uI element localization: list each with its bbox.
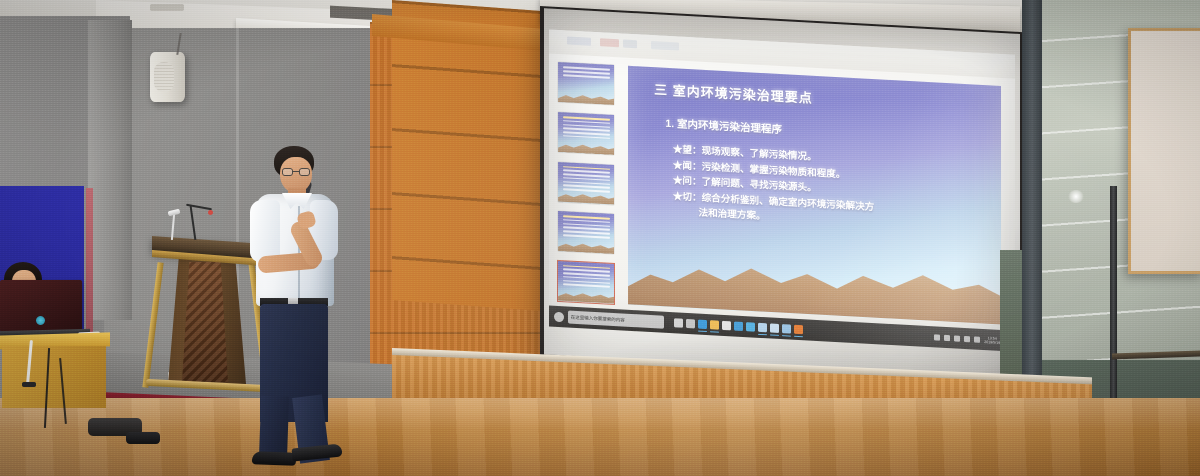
edge-browser-icon[interactable] — [698, 320, 707, 329]
speaker-grill — [154, 62, 174, 92]
clock-date: 2019/5/19 — [984, 340, 1000, 345]
volume-icon[interactable] — [964, 336, 970, 342]
presenter — [236, 146, 356, 466]
chat-icon[interactable] — [746, 323, 755, 332]
store-icon[interactable] — [722, 321, 731, 330]
thumbnail-text-lines — [563, 116, 610, 141]
operator-table-body — [2, 346, 106, 408]
slide-mountain-shading — [628, 240, 1001, 324]
thumbnail-mountain — [558, 290, 614, 303]
floor-reflection — [0, 398, 1200, 476]
ribbon-chip-2 — [600, 38, 619, 47]
powerpoint-window[interactable]: 三 室内环境污染治理要点 1. 室内环境污染治理程序 ★望：现场观察、了解污染情… — [549, 29, 1015, 352]
screen-surface: 三 室内环境污染治理要点 1. 室内环境污染治理程序 ★望：现场观察、了解污染情… — [544, 8, 1020, 380]
ribbon-chip-3 — [623, 39, 637, 48]
whiteboard[interactable] — [1128, 28, 1200, 274]
thumbnail-mountain — [558, 142, 614, 155]
slide-thumbnail-selected[interactable] — [558, 261, 614, 304]
powerpoint-ribbon[interactable] — [549, 29, 1015, 78]
glass-partition-frame — [1022, 0, 1044, 394]
chevron-up-icon[interactable] — [944, 335, 950, 341]
ceiling-vent — [150, 4, 184, 11]
network-icon[interactable] — [954, 335, 960, 341]
taskbar-clock[interactable]: 13:54 2019/5/19 — [984, 336, 1000, 345]
eyeglasses-icon — [282, 168, 310, 176]
slide-thumbnail[interactable] — [558, 161, 614, 204]
slide-title: 三 室内环境污染治理要点 — [654, 80, 982, 117]
laptop-icon[interactable] — [0, 280, 82, 332]
seated-operator — [0, 262, 120, 412]
wall-speaker-icon — [150, 52, 185, 102]
laptop-logo-icon — [36, 316, 45, 325]
projection-screen[interactable]: 三 室内环境污染治理要点 1. 室内环境污染治理程序 ★望：现场观察、了解污染情… — [540, 6, 1022, 384]
slide-thumbnail-panel[interactable] — [558, 62, 614, 303]
thumbnail-text-lines — [563, 265, 610, 290]
thumbnail-mountain — [558, 92, 614, 105]
slide-thumbnail[interactable] — [558, 211, 614, 254]
floor-equipment — [126, 432, 160, 444]
glass-light-reflection — [1068, 190, 1084, 203]
slide-bullet-list: ★望：现场观察、了解污染情况。 ★闻：污染检测、掌握污染物质和程度。 ★问：了解… — [673, 142, 994, 237]
search-input[interactable]: 在这里输入你要搜索的内容 — [568, 311, 664, 329]
thumbnail-text-lines — [563, 67, 610, 81]
slide-thumbnail[interactable] — [558, 62, 614, 105]
lecture-hall-photo: 三 室内环境污染治理要点 1. 室内环境污染治理程序 ★望：现场观察、了解污染情… — [0, 0, 1200, 476]
task-view-icon[interactable] — [674, 319, 683, 328]
pen-icon[interactable] — [934, 334, 940, 340]
taskbar-pinned-icons[interactable] — [674, 319, 803, 335]
presenter-sleeve-left — [250, 200, 280, 262]
ribbon-chip-4 — [651, 41, 679, 51]
presenter-shoe-left — [252, 451, 296, 466]
microphone-indicator-icon — [208, 210, 213, 215]
slide-subtitle: 1. 室内环境污染治理程序 — [665, 116, 986, 148]
window-icon-c[interactable] — [782, 324, 791, 333]
windows-start-icon[interactable] — [554, 312, 564, 323]
lectern-front-panel — [182, 262, 228, 382]
cortana-icon[interactable] — [686, 319, 695, 328]
thumbnail-mountain — [558, 241, 614, 254]
desk-microphone-base — [22, 382, 36, 387]
thumbnail-text-lines — [563, 215, 610, 240]
file-explorer-icon[interactable] — [710, 321, 719, 330]
browser-icon[interactable] — [734, 322, 743, 331]
thumbnail-text-lines — [563, 166, 610, 195]
slide-thumbnail[interactable] — [558, 112, 614, 155]
window-icon-a[interactable] — [758, 323, 767, 332]
window-icon-b[interactable] — [770, 324, 779, 333]
current-slide[interactable]: 三 室内环境污染治理要点 1. 室内环境污染治理程序 ★望：现场观察、了解污染情… — [628, 66, 1001, 324]
powerpoint-icon[interactable] — [794, 325, 803, 334]
ime-icon[interactable] — [974, 336, 980, 342]
ribbon-chip-1 — [567, 36, 590, 45]
